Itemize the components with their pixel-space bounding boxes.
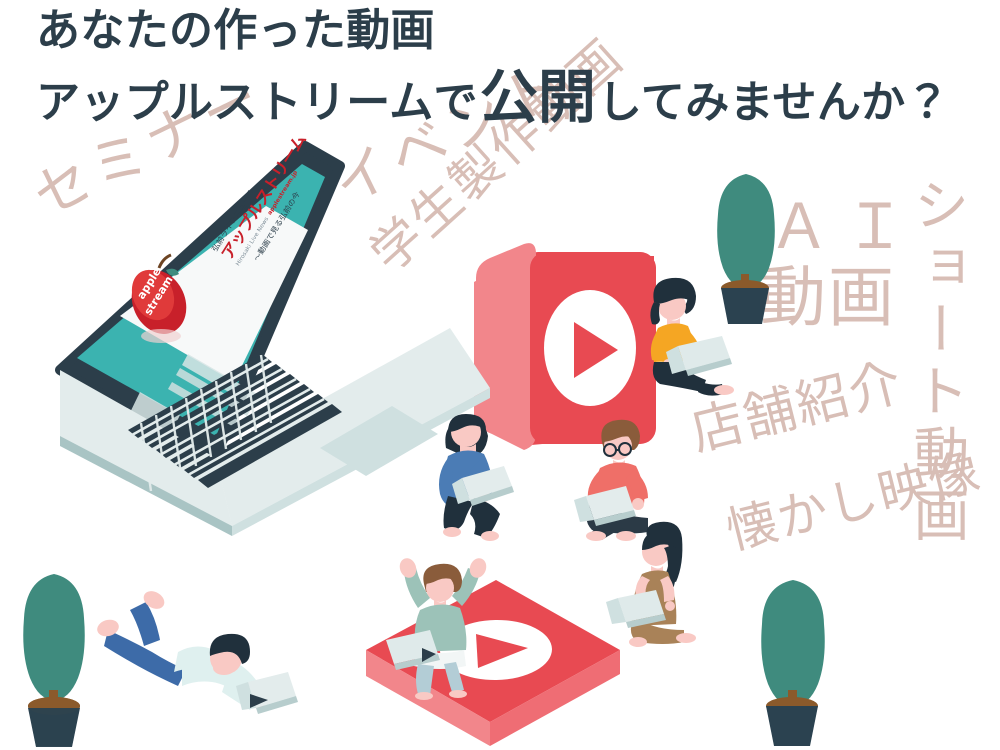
headline-line-2: アップルストリームで公開してみませんか？ <box>36 71 976 127</box>
promo-poster: セミナー イベント 学生製作動画 ＡＩ 動画 ショート動画 店舗紹介 懐かし映像… <box>0 0 1000 750</box>
potted-plant-icon <box>738 574 848 750</box>
person-with-laptop-icon <box>382 548 502 700</box>
headline: あなたの作った動画 アップルストリームで公開してみませんか？ <box>36 6 976 128</box>
person-with-laptop-icon <box>418 392 538 542</box>
potted-plant-icon <box>4 566 104 750</box>
person-with-laptop-icon <box>98 586 298 726</box>
person-with-laptop-icon <box>632 272 742 402</box>
headline-line-1: あなたの作った動画 <box>36 6 976 55</box>
person-with-laptop-icon <box>604 518 714 658</box>
headline-emphasis: 公開 <box>480 71 596 123</box>
headline-suffix: してみませんか？ <box>598 78 950 127</box>
headline-prefix: アップルストリームで <box>36 78 478 127</box>
